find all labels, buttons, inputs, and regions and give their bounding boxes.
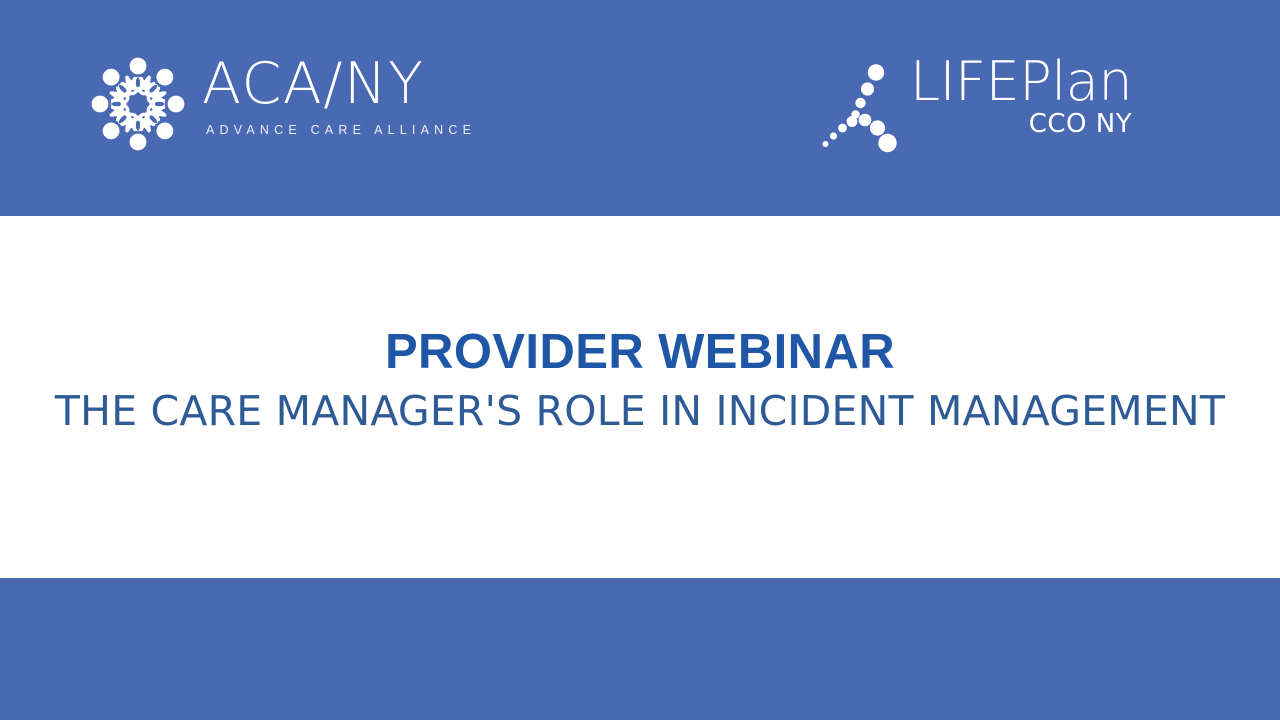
page-subtitle: THE CARE MANAGER'S ROLE IN INCIDENT MANA… xyxy=(0,389,1280,433)
lifeplan-cco-ny-logo: LIFEPlan CCO NY xyxy=(820,54,1132,160)
lifeplan-text-group: LIFEPlan CCO NY xyxy=(910,54,1132,137)
aca-ny-logo: ACA/NY ADVANCE CARE ALLIANCE xyxy=(86,52,476,156)
aca-ny-tagline: ADVANCE CARE ALLIANCE xyxy=(206,124,476,137)
page-title: PROVIDER WEBINAR xyxy=(0,326,1280,379)
aca-ny-wordmark: ACA/NY xyxy=(202,56,476,113)
lifeplan-wordmark: LIFEPlan xyxy=(910,54,1132,109)
title-block: PROVIDER WEBINAR THE CARE MANAGER'S ROLE… xyxy=(0,326,1280,433)
radial-people-circle-icon xyxy=(86,52,190,156)
title-slide: ACA/NY ADVANCE CARE ALLIANCE xyxy=(0,0,1280,720)
dotted-checkmark-icon xyxy=(820,60,906,160)
aca-ny-text-group: ACA/NY ADVANCE CARE ALLIANCE xyxy=(202,52,476,137)
logo-row: ACA/NY ADVANCE CARE ALLIANCE xyxy=(0,0,1280,216)
lifeplan-subtext: CCO NY xyxy=(910,111,1132,137)
footer-band xyxy=(0,578,1280,720)
